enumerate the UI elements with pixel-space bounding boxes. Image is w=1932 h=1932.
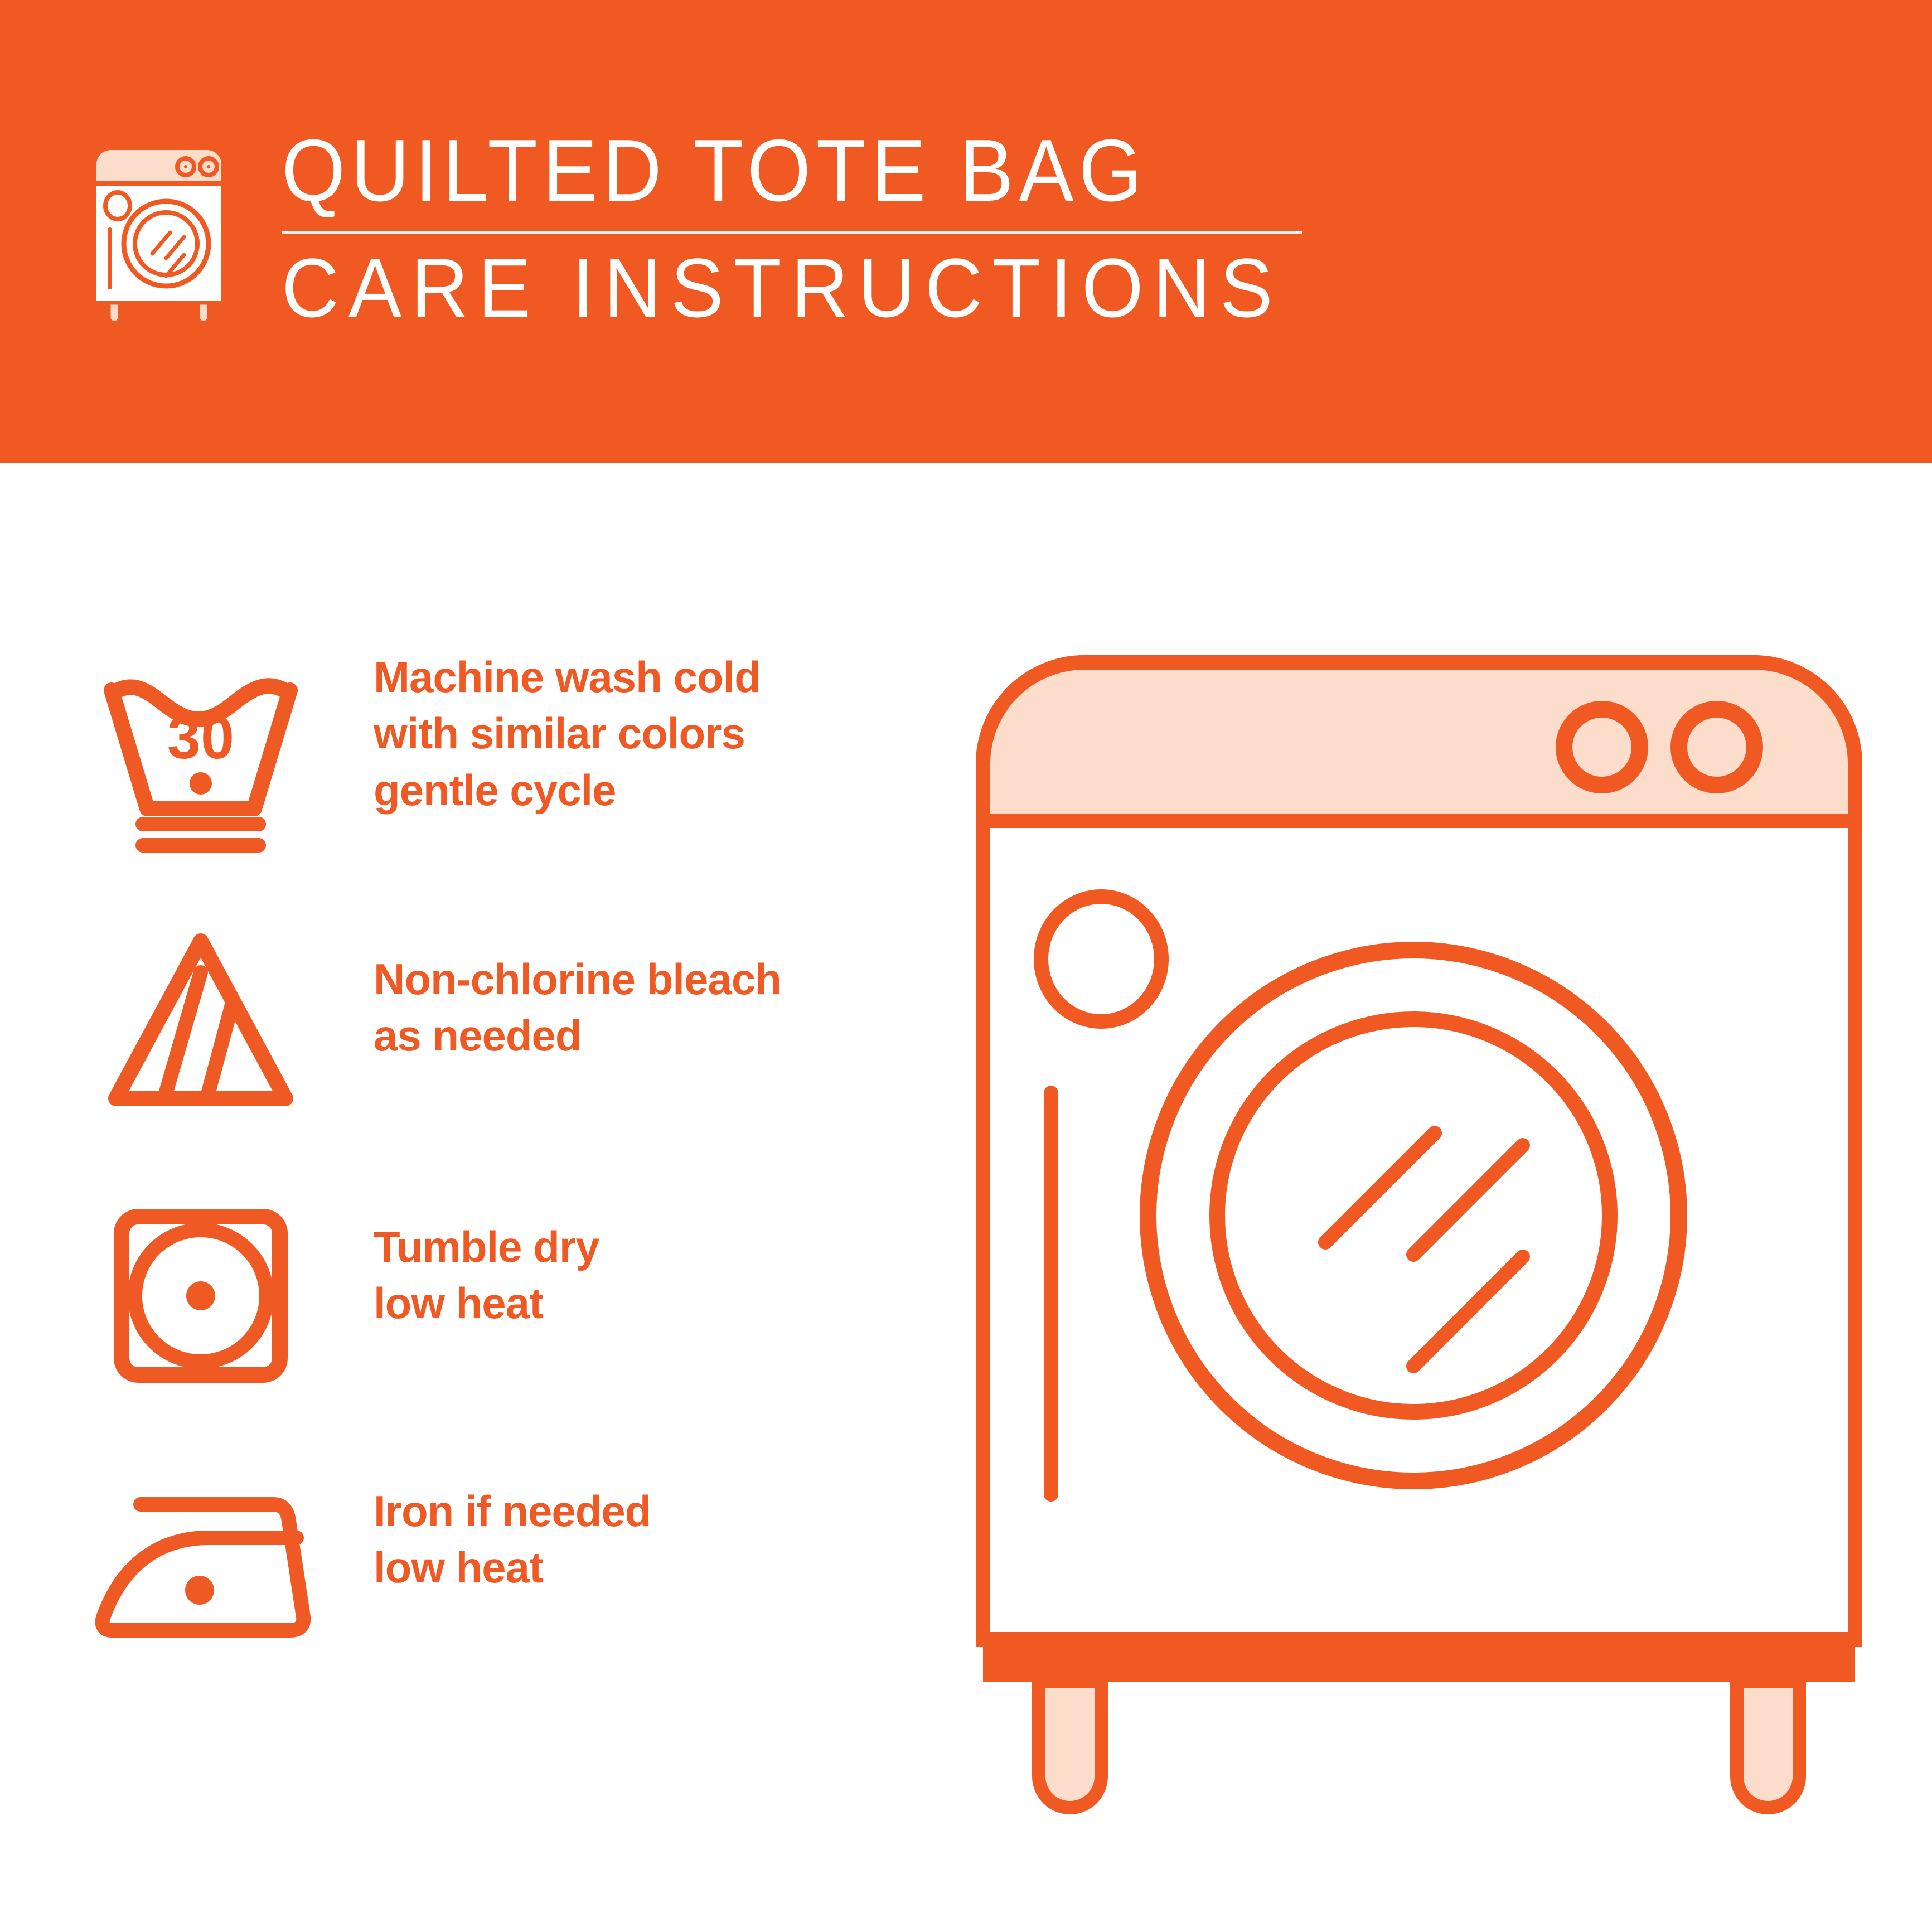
- care-text-line: Tumble dry: [374, 1219, 959, 1275]
- page-subtitle: CARE INSTRUCTIONS: [282, 246, 1315, 330]
- page-title: QUILTED TOTE BAG: [282, 127, 1293, 215]
- care-text-line: Iron if needed: [374, 1483, 959, 1539]
- care-text-iron: Iron if needed low heat: [312, 1450, 959, 1596]
- care-text-machine-wash: Machine wash cold with similar colors ge…: [312, 647, 959, 819]
- detergent-indicator-circle: [1041, 897, 1161, 1021]
- wash-temperature-label: 30: [167, 704, 234, 771]
- knob-right: [1679, 709, 1755, 785]
- care-text-line: low heat: [374, 1539, 959, 1596]
- machine-wash-30-gentle-symbol: 30: [89, 647, 312, 870]
- header-content: QUILTED TOTE BAG CARE INSTRUCTIONS: [86, 125, 1369, 360]
- leg-left: [1039, 1682, 1101, 1808]
- care-instructions-list: 30 Machine wash cold with similar colors…: [89, 647, 959, 1717]
- header-titles: QUILTED TOTE BAG CARE INSTRUCTIONS: [282, 125, 1369, 330]
- header-band: QUILTED TOTE BAG CARE INSTRUCTIONS: [0, 0, 1932, 463]
- iron-low-heat-symbol: [89, 1450, 312, 1673]
- care-text-line: with similar colors: [374, 705, 959, 762]
- care-text-line: gentle cycle: [374, 762, 959, 819]
- care-row-machine-wash: 30 Machine wash cold with similar colors…: [89, 647, 959, 914]
- care-text-line: Machine wash cold: [374, 649, 959, 705]
- knob-left: [1564, 709, 1640, 785]
- title-divider: [282, 231, 1302, 234]
- care-text-line: as needed: [374, 1008, 959, 1064]
- washing-machine-illustration: [967, 647, 1871, 1818]
- non-chlorine-bleach-symbol: [89, 914, 312, 1137]
- care-text-line: Non-chlorine bleach: [374, 951, 959, 1008]
- care-row-iron: Iron if needed low heat: [89, 1450, 959, 1717]
- leg-right: [1737, 1682, 1799, 1808]
- care-text-bleach: Non-chlorine bleach as needed: [312, 914, 959, 1064]
- care-text-tumble-dry: Tumble dry low heat: [312, 1182, 959, 1332]
- machine-base-bar: [983, 1639, 1855, 1682]
- care-row-bleach: Non-chlorine bleach as needed: [89, 914, 959, 1182]
- care-row-tumble-dry: Tumble dry low heat: [89, 1182, 959, 1450]
- care-text-line: low heat: [374, 1275, 959, 1331]
- washing-machine-icon: [86, 138, 231, 322]
- tumble-dry-low-symbol: [89, 1182, 312, 1405]
